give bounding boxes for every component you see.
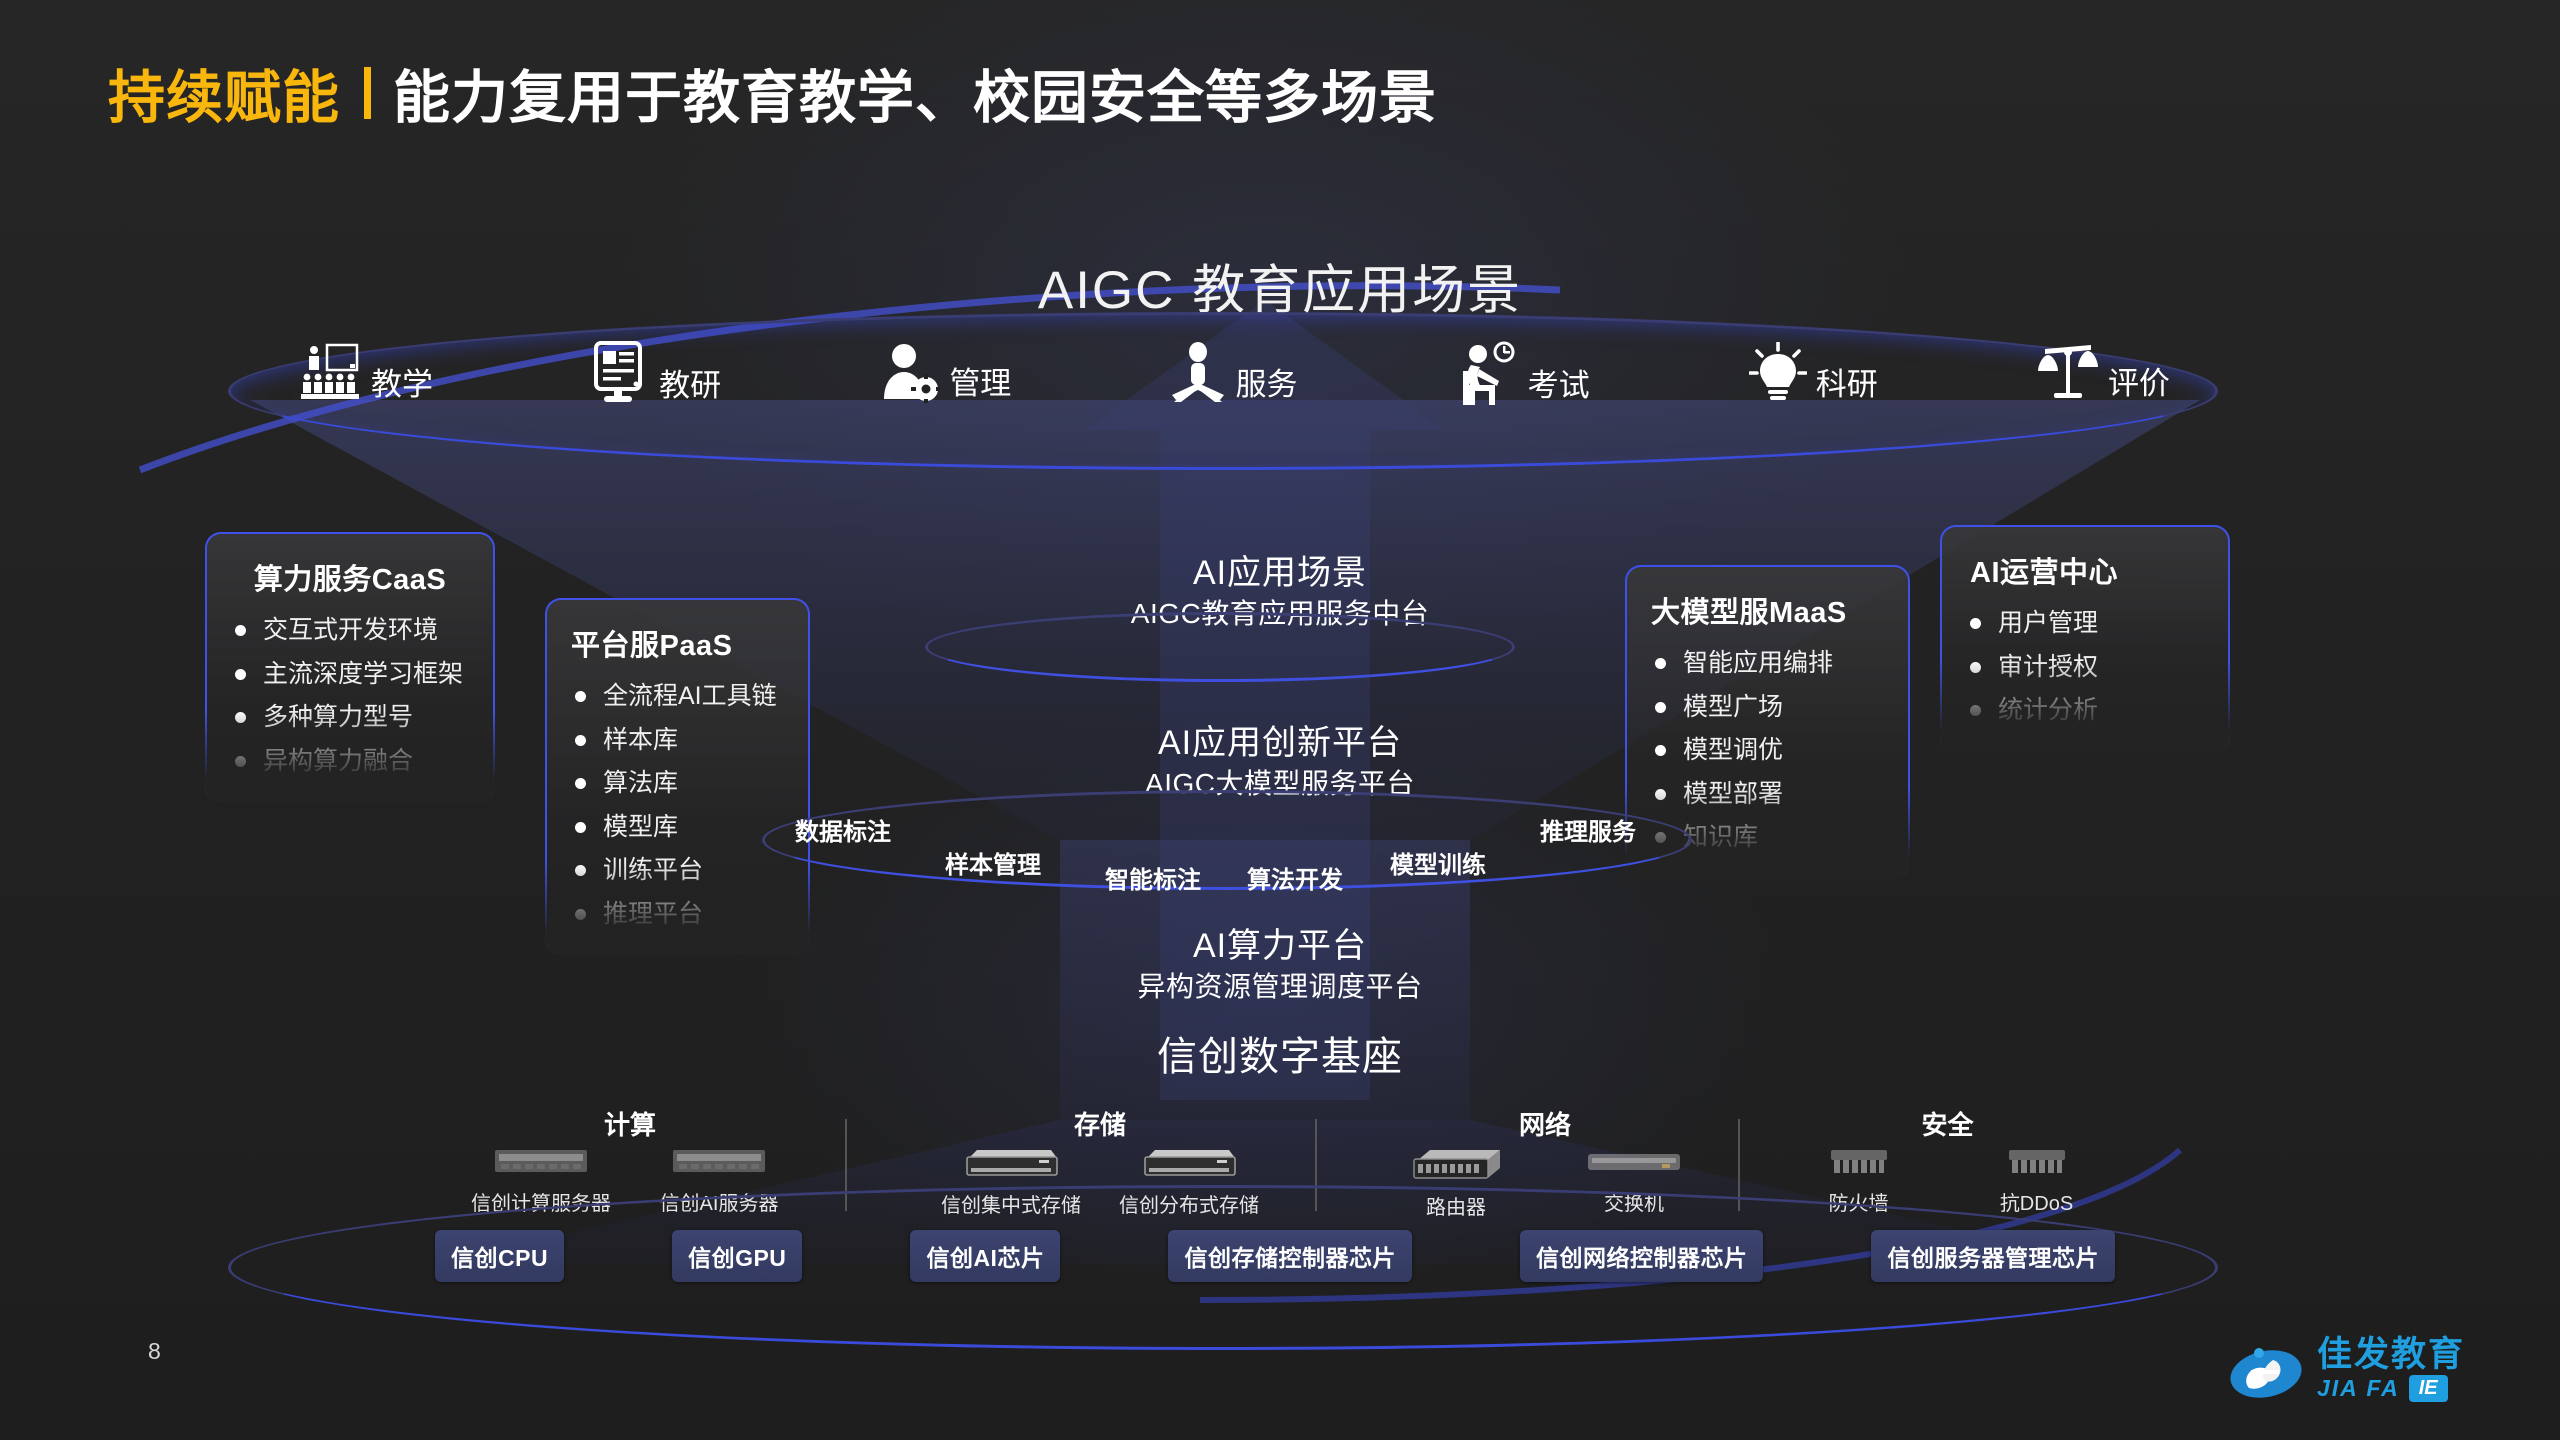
page-number: 8 (148, 1338, 161, 1365)
panel-caas[interactable]: 算力服务CaaS 交互式开发环境 主流深度学习框架 多种算力型号 异构算力融合 (205, 532, 495, 802)
person-service-icon (1170, 342, 1226, 404)
category-name: 存储 (890, 1105, 1310, 1142)
list-item: 训练平台 (571, 852, 784, 889)
list-item: 智能应用编排 (1651, 645, 1884, 682)
hardware-item[interactable]: 抗DDoS (1967, 1144, 2107, 1216)
monitor-document-icon (592, 341, 650, 405)
panel-ops-title: AI运营中心 (1970, 549, 2204, 591)
hardware-category-security: 安全 防火墙 (1775, 1105, 2120, 1216)
list-item: 推理平台 (571, 896, 784, 933)
scenario-item-teaching[interactable]: 教学 (300, 342, 433, 404)
center-compute-title: AI算力平台 (880, 925, 1680, 969)
center-block-compute: AI算力平台 异构资源管理调度平台 (880, 925, 1680, 1005)
scenario-item-management[interactable]: 管理 (880, 343, 1011, 403)
scenario-item-exam[interactable]: 考试 (1457, 341, 1590, 405)
scenario-item-research-teaching[interactable]: 教研 (592, 341, 721, 405)
slide-title: 持续赋能 能力复用于教育教学、校园安全等多场景 (108, 52, 1437, 134)
scenario-item-evaluation[interactable]: 评价 (2037, 343, 2170, 403)
item-caption: 抗DDoS (1967, 1187, 2107, 1216)
pipeline-label-algorithm-development: 算法开发 (1247, 860, 1343, 895)
chip-storage-ctrl[interactable]: 信创存储控制器芯片 (1168, 1230, 1412, 1282)
server-icon (493, 1144, 589, 1178)
scene-ring (925, 612, 1515, 682)
center-scene-title: AI应用场景 (880, 552, 1680, 596)
panel-paas-title: 平台服PaaS (571, 622, 784, 664)
lightbulb-icon (1749, 342, 1807, 404)
scenario-label: 教学 (371, 369, 433, 404)
panel-paas-list: 全流程AI工具链 样本库 算法库 模型库 训练平台 推理平台 (571, 678, 784, 932)
pipeline-label-data-annotation: 数据标注 (795, 812, 891, 847)
list-item: 交互式开发环境 (231, 612, 469, 649)
panel-maas-list: 智能应用编排 模型广场 模型调优 模型部署 知识库 (1651, 645, 1884, 856)
storage-icon (963, 1144, 1059, 1180)
scenario-label: 评价 (2108, 368, 2170, 403)
storage-icon (1141, 1144, 1237, 1180)
person-gear-icon (880, 343, 940, 403)
panel-caas-list: 交互式开发环境 主流深度学习框架 多种算力型号 异构算力融合 (231, 612, 469, 779)
center-compute-subtitle: 异构资源管理调度平台 (880, 969, 1680, 1005)
list-item: 全流程AI工具链 (571, 678, 784, 715)
list-item: 审计授权 (1966, 649, 2204, 686)
scenarios-row: 教学 教研 (300, 330, 2170, 416)
pipeline-label-model-training: 模型训练 (1390, 845, 1486, 880)
classroom-icon (300, 342, 362, 404)
list-item: 算法库 (571, 765, 784, 802)
list-item: 模型库 (571, 809, 784, 846)
server-icon (671, 1144, 767, 1178)
person-exam-clock-icon (1457, 341, 1519, 405)
panel-maas-title: 大模型服MaaS (1651, 589, 1884, 631)
chip-server-mgmt[interactable]: 信创服务器管理芯片 (1871, 1230, 2115, 1282)
pipeline-label-sample-management: 样本管理 (945, 845, 1041, 880)
panel-ai-operations-center[interactable]: AI运营中心 用户管理 审计授权 统计分析 (1940, 525, 2230, 752)
scenario-item-service[interactable]: 服务 (1170, 342, 1297, 404)
title-highlight: 持续赋能 (108, 52, 340, 134)
scenario-label: 管理 (949, 368, 1011, 403)
scenario-label: 服务 (1235, 369, 1297, 404)
logo-cn-text: 佳发教育 (2317, 1337, 2465, 1372)
chip-cpu[interactable]: 信创CPU (435, 1230, 564, 1282)
list-item: 模型调优 (1651, 732, 1884, 769)
center-block-base: 信创数字基座 (880, 1032, 1680, 1083)
chip-gpu[interactable]: 信创GPU (672, 1230, 802, 1282)
router-icon (1408, 1144, 1504, 1182)
pipeline-label-inference-service: 推理服务 (1540, 812, 1636, 847)
scales-icon (2037, 343, 2099, 403)
title-rest: 能力复用于教育教学、校园安全等多场景 (393, 52, 1437, 134)
category-name: 网络 (1345, 1105, 1745, 1142)
center-innovation-title: AI应用创新平台 (880, 722, 1680, 766)
switch-icon (1586, 1144, 1682, 1178)
panel-paas[interactable]: 平台服PaaS 全流程AI工具链 样本库 算法库 模型库 训练平台 推理平台 (545, 598, 810, 955)
jiafa-logo-mark (2229, 1340, 2303, 1400)
list-item: 主流深度学习框架 (231, 656, 469, 693)
scenario-label: 教研 (659, 370, 721, 405)
company-logo: 佳发教育 JIA FA IE (2229, 1337, 2465, 1402)
list-item: 统计分析 (1966, 692, 2204, 729)
chip-row: 信创CPU 信创GPU 信创AI芯片 信创存储控制器芯片 信创网络控制器芯片 信… (435, 1230, 2115, 1282)
panel-ops-list: 用户管理 审计授权 统计分析 (1966, 605, 2204, 729)
chip-network-ctrl[interactable]: 信创网络控制器芯片 (1520, 1230, 1764, 1282)
chip-ai[interactable]: 信创AI芯片 (910, 1230, 1060, 1282)
category-name: 安全 (1775, 1105, 2120, 1142)
list-item: 模型广场 (1651, 689, 1884, 726)
scenario-label: 科研 (1816, 369, 1878, 404)
center-base-title: 信创数字基座 (880, 1032, 1680, 1083)
slide-canvas: 持续赋能 能力复用于教育教学、校园安全等多场景 AIGC 教育应用场景 (0, 0, 2560, 1440)
scenario-item-scientific-research[interactable]: 科研 (1749, 342, 1878, 404)
list-item: 多种算力型号 (231, 699, 469, 736)
list-item: 用户管理 (1966, 605, 2204, 642)
firewall-icon (1821, 1144, 1897, 1178)
list-item: 异构算力融合 (231, 743, 469, 780)
title-separator-bar (364, 67, 371, 119)
list-item: 模型部署 (1651, 776, 1884, 813)
category-name: 计算 (420, 1105, 840, 1142)
logo-badge: IE (2409, 1375, 2448, 1402)
logo-en-text: JIA FA (2317, 1375, 2400, 1402)
panel-caas-title: 算力服务CaaS (231, 556, 469, 598)
scenario-label: 考试 (1528, 370, 1590, 405)
ddos-icon (1999, 1144, 2075, 1178)
list-item: 样本库 (571, 722, 784, 759)
pipeline-label-smart-annotation: 智能标注 (1105, 860, 1201, 895)
